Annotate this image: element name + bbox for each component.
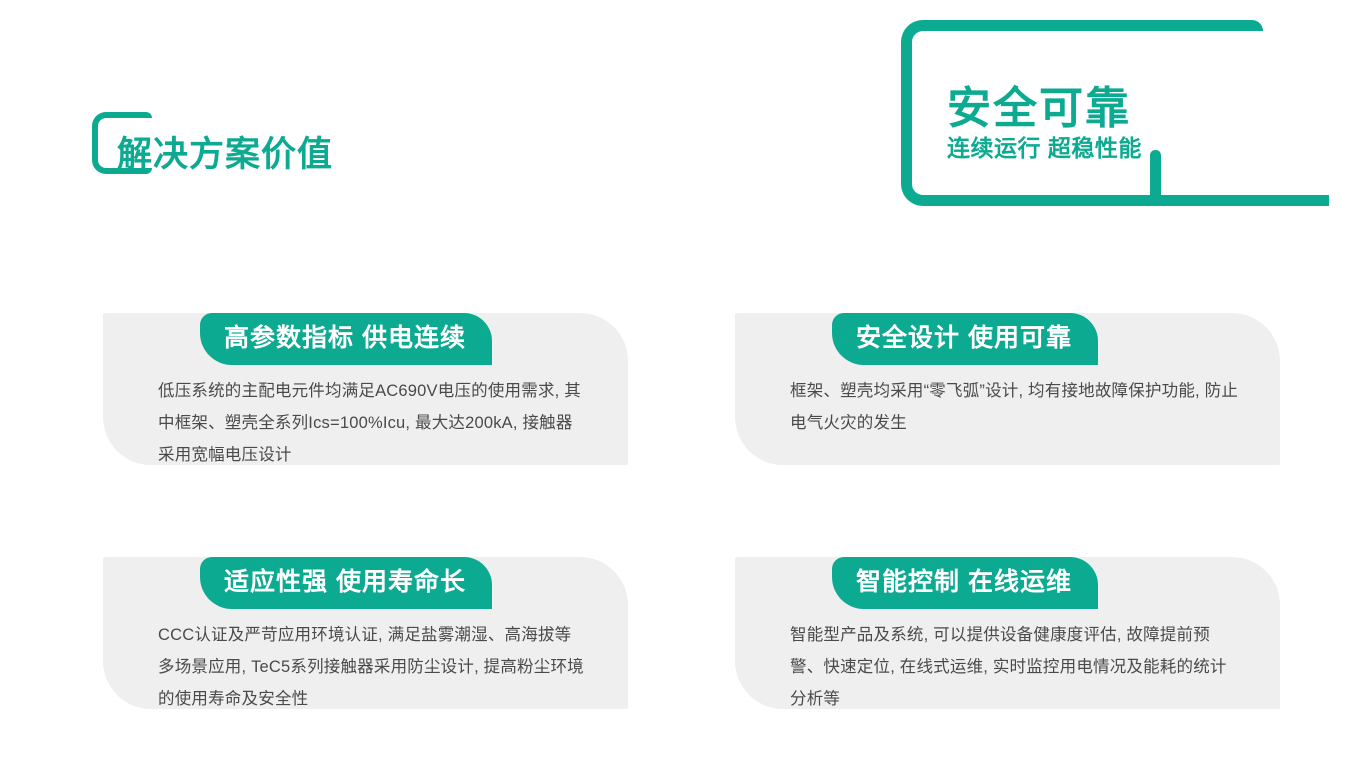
card-row: 高参数指标 供电连续 低压系统的主配电元件均满足AC690V电压的使用需求, 其… bbox=[0, 283, 1350, 498]
card-body-text: 框架、塑壳均采用“零飞弧”设计, 均有接地故障保护功能, 防止电气火灾的发生 bbox=[790, 375, 1240, 439]
feature-card: 适应性强 使用寿命长 CCC认证及严苛应用环境认证, 满足盐雾潮湿、高海拔等多场… bbox=[103, 557, 628, 709]
card-body-text: CCC认证及严苛应用环境认证, 满足盐雾潮湿、高海拔等多场景应用, TeC5系列… bbox=[158, 619, 588, 715]
feature-card: 高参数指标 供电连续 低压系统的主配电元件均满足AC690V电压的使用需求, 其… bbox=[103, 313, 628, 465]
logo-badge: 安全可靠 连续运行 超稳性能 bbox=[901, 20, 1169, 206]
card-body-text: 智能型产品及系统, 可以提供设备健康度评估, 故障提前预警、快速定位, 在线式运… bbox=[790, 619, 1240, 715]
card-body-text: 低压系统的主配电元件均满足AC690V电压的使用需求, 其中框架、塑壳全系列Ic… bbox=[158, 375, 588, 471]
card-badge-label: 安全设计 使用可靠 bbox=[856, 326, 1072, 351]
feature-card: 安全设计 使用可靠 框架、塑壳均采用“零飞弧”设计, 均有接地故障保护功能, 防… bbox=[735, 313, 1280, 465]
page-title: 解决方案价值 bbox=[117, 126, 333, 177]
feature-card: 智能控制 在线运维 智能型产品及系统, 可以提供设备健康度评估, 故障提前预警、… bbox=[735, 557, 1280, 709]
section-heading: 解决方案价值 bbox=[92, 112, 512, 192]
page-root: { "section": { "heading": "解决方案价值", "bra… bbox=[0, 0, 1350, 782]
logo-subtitle: 连续运行 超稳性能 bbox=[947, 129, 1142, 163]
card-row: 适应性强 使用寿命长 CCC认证及严苛应用环境认证, 满足盐雾潮湿、高海拔等多场… bbox=[0, 527, 1350, 742]
logo-title: 安全可靠 bbox=[947, 72, 1131, 136]
frame-step-accent bbox=[1150, 150, 1161, 206]
card-badge: 安全设计 使用可靠 bbox=[832, 313, 1098, 365]
card-badge: 智能控制 在线运维 bbox=[832, 557, 1098, 609]
feature-card-grid: 高参数指标 供电连续 低压系统的主配电元件均满足AC690V电压的使用需求, 其… bbox=[0, 283, 1350, 742]
card-badge: 高参数指标 供电连续 bbox=[200, 313, 492, 365]
card-badge-label: 智能控制 在线运维 bbox=[856, 570, 1072, 595]
card-badge: 适应性强 使用寿命长 bbox=[200, 557, 492, 609]
card-badge-label: 高参数指标 供电连续 bbox=[224, 326, 466, 351]
card-badge-label: 适应性强 使用寿命长 bbox=[224, 570, 466, 595]
